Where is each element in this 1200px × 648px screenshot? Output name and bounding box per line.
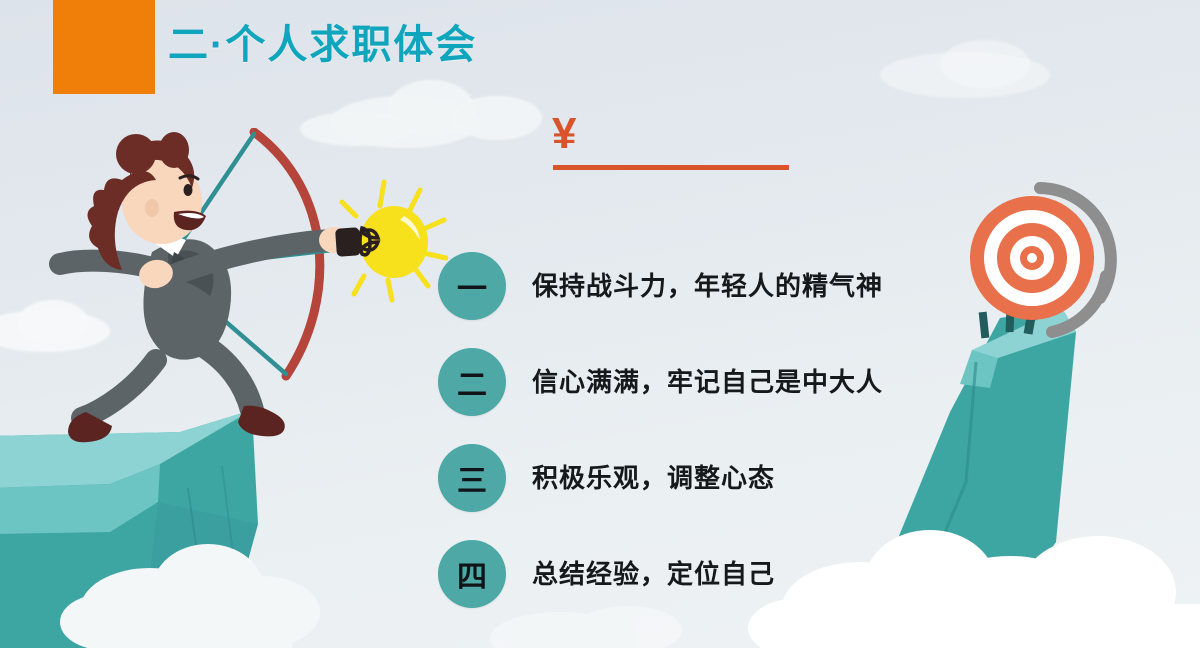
list-item[interactable]: 二 信心满满，牢记自己是中大人 — [438, 348, 998, 444]
archer-businessman-illustration — [48, 128, 448, 468]
cloud-decoration — [0, 480, 1200, 648]
point-badge: 二 — [438, 348, 506, 416]
point-badge: 一 — [438, 252, 506, 320]
point-text: 保持战斗力，年轻人的精气神 — [532, 266, 883, 303]
orange-decor-block — [53, 0, 155, 94]
page-title: 二·个人求职体会 — [168, 12, 477, 70]
point-text: 信心满满，牢记自己是中大人 — [532, 362, 883, 399]
slide-canvas: 二·个人求职体会 ¥ — [0, 0, 1200, 648]
yen-underline-rule — [553, 165, 789, 170]
yen-symbol: ¥ — [552, 112, 576, 156]
list-item[interactable]: 一 保持战斗力，年轻人的精气神 — [438, 252, 998, 348]
